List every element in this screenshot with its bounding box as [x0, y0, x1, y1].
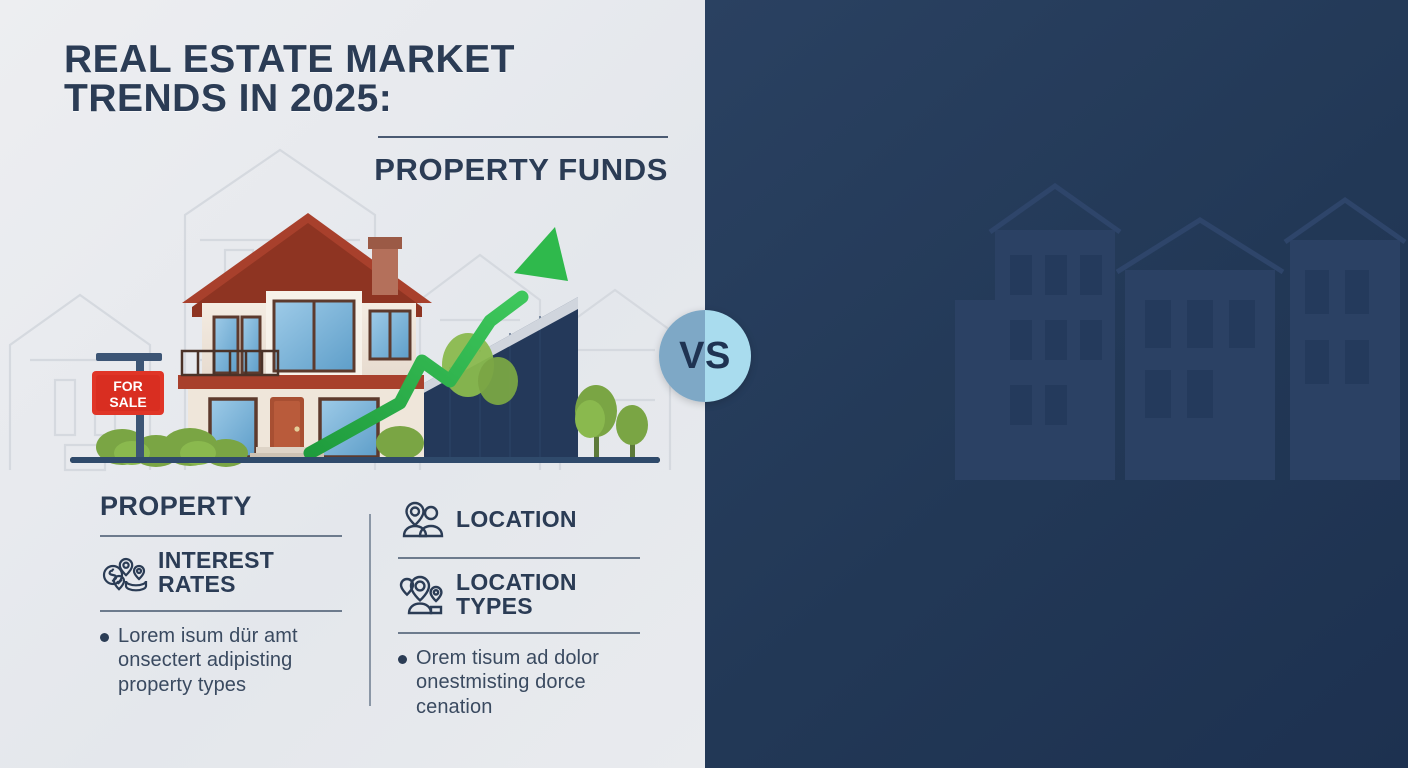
vs-badge: VS	[659, 310, 751, 402]
left-col1-feature-interest-rates[interactable]: Interest Rates	[100, 545, 342, 601]
left-columns-separator	[342, 492, 398, 719]
left-column-2: Location	[398, 492, 640, 719]
left-col1-rule-bottom	[100, 610, 342, 612]
left-col1-bullet-text: Lorem isum dür amt onsectert adipisting …	[118, 624, 342, 697]
right-background-buildings	[705, 0, 1408, 768]
vertical-divider	[369, 514, 371, 706]
location-person-icon	[398, 498, 446, 542]
left-col2-bullet: Orem tisum ad dolor onestmisting dorce c…	[398, 646, 640, 719]
left-col2-feature-location[interactable]: Location	[398, 492, 640, 548]
left-title-sub: Property Funds	[0, 152, 668, 188]
left-title-block: Real Estate Market Trends in 2025: Prope…	[0, 40, 690, 188]
left-column-1: Property	[100, 492, 342, 719]
house-growth-illustration: FOR SALE	[70, 185, 660, 475]
left-col2-rule-top	[398, 557, 640, 559]
bullet-dot-icon	[398, 655, 407, 664]
right-panel: Investment Funds VS. Estmens	[705, 0, 1408, 768]
bullet-dot-icon	[100, 633, 109, 642]
infographic-root: Real Estate Market Trends in 2025: Prope…	[0, 0, 1408, 768]
left-col1-bullet: Lorem isum dür amt onsectert adipisting …	[100, 624, 342, 697]
left-title-main: Real Estate Market Trends in 2025:	[0, 40, 668, 118]
left-col2-bullet-text: Orem tisum ad dolor onestmisting dorce c…	[416, 646, 640, 719]
left-title-divider	[378, 136, 668, 138]
left-col1-feature-label: Interest Rates	[158, 549, 342, 596]
location-types-icon	[398, 573, 446, 617]
vs-badge-label: VS	[679, 335, 731, 378]
left-col2-feature2-label: Location Types	[456, 571, 640, 618]
svg-text:FOR: FOR	[113, 378, 143, 394]
left-panel: Real Estate Market Trends in 2025: Prope…	[0, 0, 705, 768]
coins-location-icon	[100, 551, 148, 595]
left-columns: Property	[100, 492, 680, 719]
left-col2-feature1-label: Location	[456, 508, 577, 532]
left-col1-heading: Property	[100, 492, 342, 526]
left-col2-feature-location-types[interactable]: Location Types	[398, 567, 640, 623]
left-col1-rule-top	[100, 535, 342, 537]
svg-text:SALE: SALE	[109, 394, 146, 410]
left-col2-rule-bottom	[398, 632, 640, 634]
